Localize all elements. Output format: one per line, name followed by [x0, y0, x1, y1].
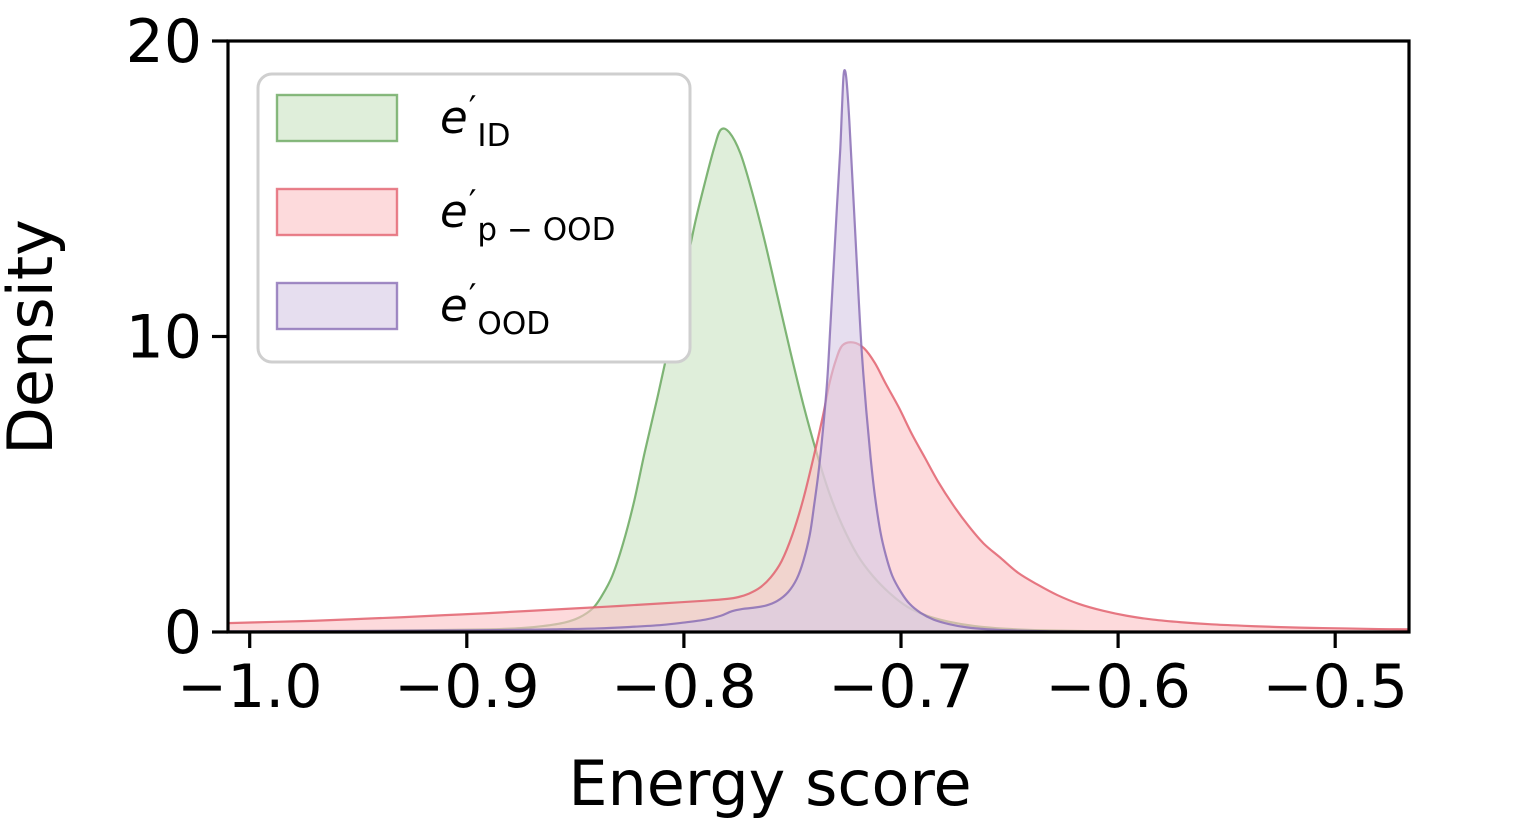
x-tick-labels: −1.0−0.9−0.8−0.7−0.6−0.5 — [177, 652, 1408, 722]
legend-prime: ′ — [469, 277, 477, 317]
y-tick-labels: 01020 — [126, 7, 202, 668]
legend-subscript: ID — [477, 118, 510, 154]
density-plot: −1.0−0.9−0.8−0.7−0.6−0.5 01020 Energy sc… — [0, 0, 1524, 836]
legend-prime: ′ — [469, 89, 477, 129]
x-tick-label: −0.5 — [1262, 652, 1408, 722]
legend-symbol: e — [440, 185, 468, 238]
x-axis-title: Energy score — [568, 747, 971, 820]
x-tick-label: −0.6 — [1045, 652, 1191, 722]
y-tick-marks — [212, 41, 228, 632]
x-tick-label: −0.7 — [828, 652, 974, 722]
x-tick-label: −0.8 — [611, 652, 757, 722]
legend-subscript: OOD — [477, 306, 550, 342]
legend-swatch — [277, 283, 397, 329]
legend-symbol: e — [440, 91, 468, 144]
y-tick-label: 20 — [126, 7, 202, 77]
y-tick-label: 10 — [126, 303, 202, 373]
y-axis-title: Density — [0, 219, 67, 455]
legend-subscript: p − OOD — [477, 212, 615, 248]
x-tick-label: −0.9 — [394, 652, 540, 722]
y-tick-label: 0 — [164, 598, 202, 668]
legend-symbol: e — [440, 279, 468, 332]
legend-swatch — [277, 189, 397, 235]
legend-prime: ′ — [469, 183, 477, 223]
legend[interactable]: e′IDe′p − OODe′OOD — [258, 74, 690, 362]
x-tick-marks — [250, 632, 1335, 648]
legend-swatch — [277, 95, 397, 141]
figure-canvas: −1.0−0.9−0.8−0.7−0.6−0.5 01020 Energy sc… — [0, 0, 1524, 836]
